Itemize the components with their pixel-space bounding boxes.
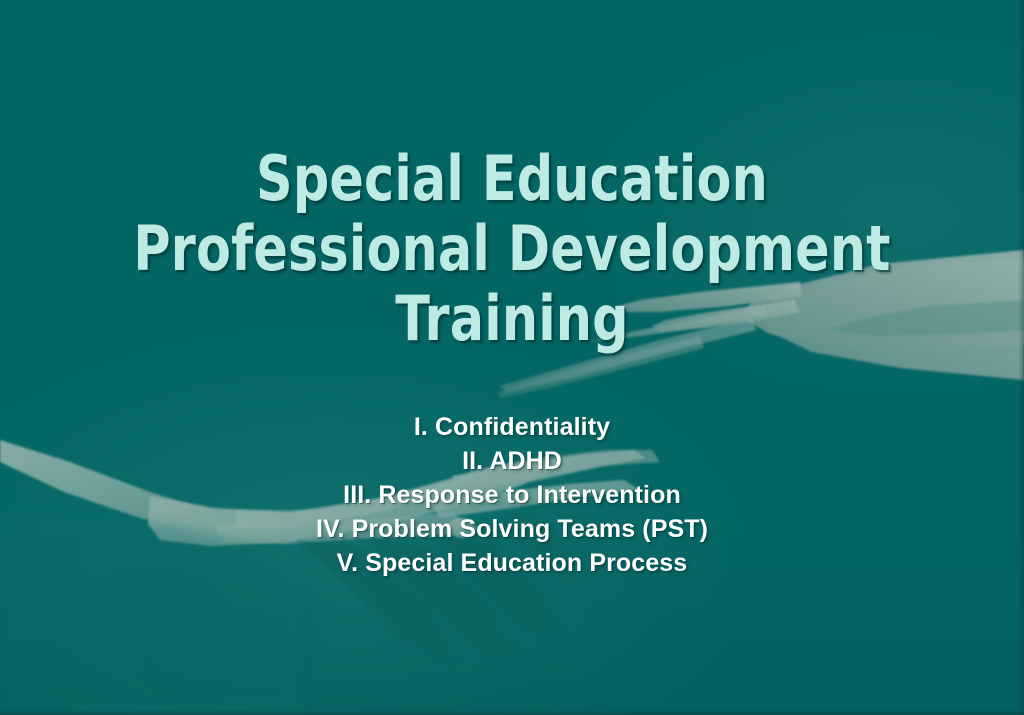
agenda-item-2: II. ADHD — [0, 444, 1024, 478]
title-line-1: Special Education — [118, 144, 905, 214]
slide-title: Special Education Professional Developme… — [32, 144, 992, 354]
title-line-3: Training — [118, 284, 905, 354]
agenda-item-5: V. Special Education Process — [0, 546, 1024, 580]
agenda-list: I. Confidentiality II. ADHD III. Respons… — [0, 410, 1024, 580]
title-line-2: Professional Development — [118, 214, 905, 284]
agenda-item-4: IV. Problem Solving Teams (PST) — [0, 512, 1024, 546]
slide-content: Special Education Professional Developme… — [0, 0, 1024, 715]
agenda-item-3: III. Response to Intervention — [0, 478, 1024, 512]
agenda-item-1: I. Confidentiality — [0, 410, 1024, 444]
presentation-slide: Special Education Professional Developme… — [0, 0, 1024, 715]
